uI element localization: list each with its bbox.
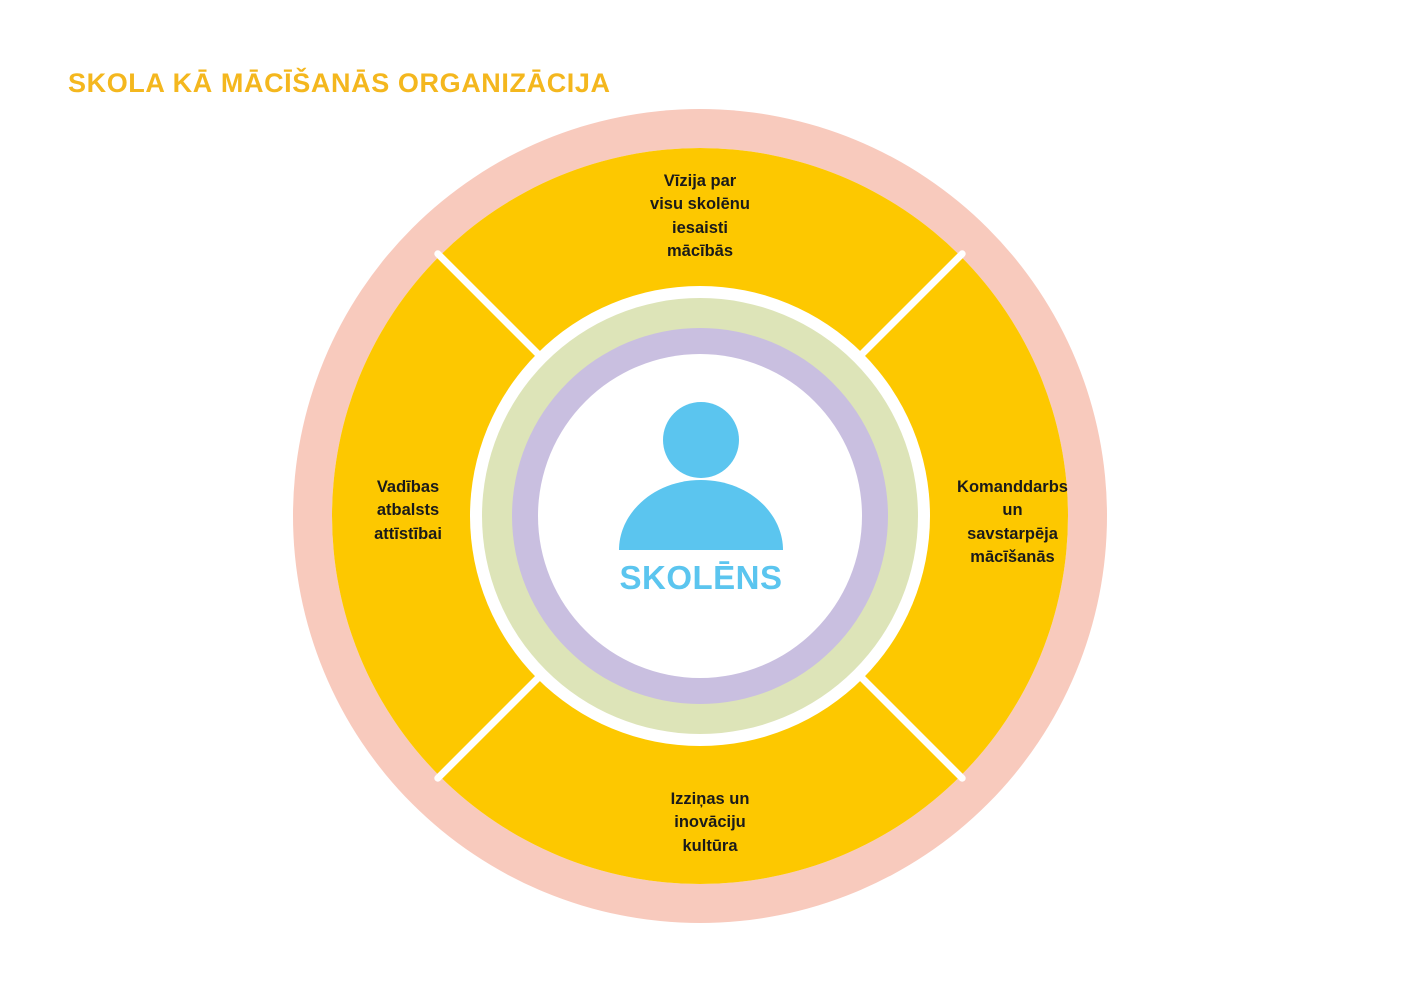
center-student-block: SKOLĒNS (576, 398, 826, 597)
segment-label-bottom: Izziņas un inovāciju kultūra (610, 788, 810, 858)
segment-label-right: Komanddarbs un savstarpēja mācīšanās (925, 476, 1100, 570)
segment-label-top: Vīzija par visu skolēnu iesaisti mācībās (600, 170, 800, 264)
person-icon (611, 398, 791, 553)
center-label: SKOLĒNS (576, 559, 826, 597)
ring-diagram-container: Vīzija par visu skolēnu iesaisti mācībās… (0, 0, 1403, 992)
segment-label-left: Vadības atbalsts attīstībai (318, 476, 498, 546)
